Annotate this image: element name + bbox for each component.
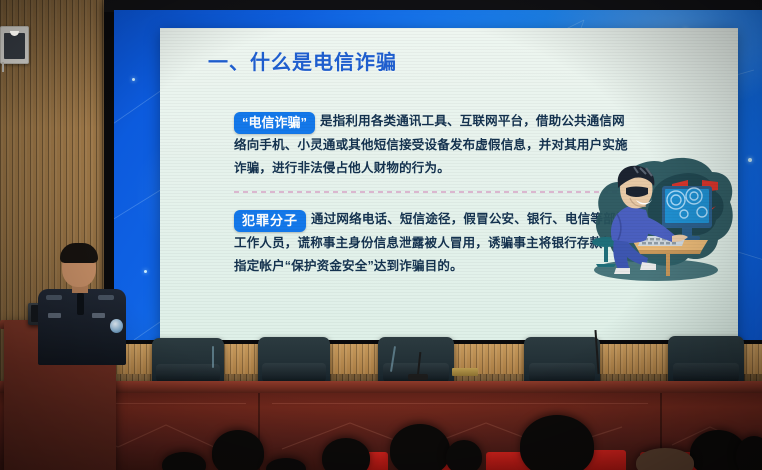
officer-chest-badge — [48, 313, 61, 318]
officer-shoulder-badge — [98, 295, 114, 300]
audience-head — [390, 424, 450, 470]
paragraph-divider — [234, 191, 638, 193]
officer-tie — [77, 293, 84, 315]
slide-paragraph-2: 犯罪分子通过网络电话、短信途径，假冒公安、银行、电信等部门工作人员，谎称事主身份… — [234, 208, 634, 278]
decor-dot — [132, 78, 135, 81]
desk-nameplate — [452, 368, 478, 376]
audience-head — [520, 415, 594, 470]
decor-dot — [144, 270, 147, 273]
stage-chair — [524, 337, 600, 384]
paragraph-1-badge: “电信诈骗” — [234, 112, 315, 134]
presentation-slide: 一、什么是电信诈骗 “电信诈骗”是指利用各类通讯工具、互联网平台，借助公共通信网… — [114, 10, 762, 340]
police-officer-presenter — [36, 243, 132, 363]
slide-title: 一、什么是电信诈骗 — [208, 46, 397, 75]
slide-content-card: 一、什么是电信诈骗 “电信诈骗”是指利用各类通讯工具、互联网平台，借助公共通信网… — [160, 28, 738, 340]
panel-stem — [2, 62, 4, 72]
hacker-at-computer-illustration — [584, 154, 736, 286]
slide-paragraph-1: “电信诈骗”是指利用各类通讯工具、互联网平台，借助公共通信网络向手机、小灵通或其… — [234, 110, 634, 180]
microphone-base — [408, 374, 428, 380]
officer-chest-badge — [92, 313, 105, 318]
officer-shoulder-badge — [46, 295, 62, 300]
audience-head — [322, 438, 370, 470]
wall-mounted-control-panel — [0, 26, 29, 64]
audience-head — [212, 430, 264, 470]
stage-chair — [258, 337, 330, 384]
officer-hair — [60, 243, 98, 263]
officer-arm-patch — [110, 319, 123, 333]
decor-dot — [748, 158, 752, 162]
audience-head — [446, 440, 482, 470]
audience-head — [636, 448, 694, 470]
panel-screen — [4, 33, 25, 59]
chair-highlight — [212, 346, 214, 368]
stage-chair — [668, 336, 744, 384]
photo-scene: 一、什么是电信诈骗 “电信诈骗”是指利用各类通讯工具、互联网平台，借助公共通信网… — [0, 0, 762, 470]
paragraph-2-badge: 犯罪分子 — [234, 210, 306, 232]
